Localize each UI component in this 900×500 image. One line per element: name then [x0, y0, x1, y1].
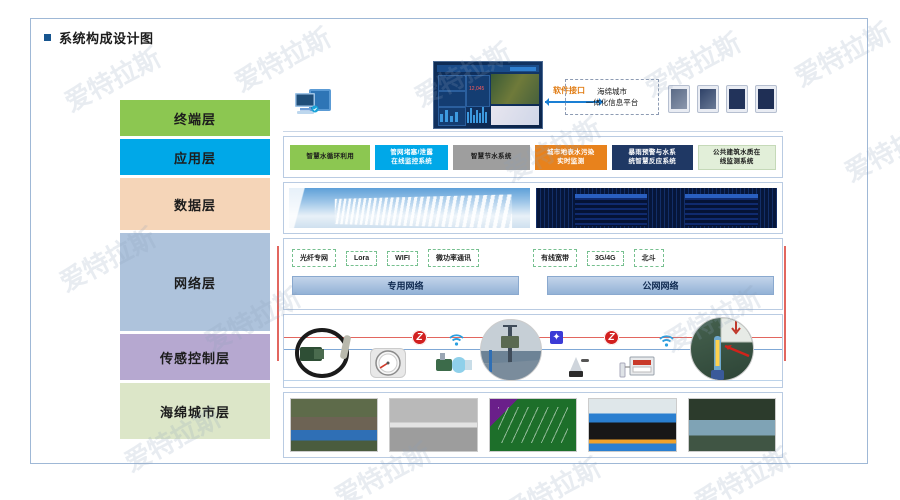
tablet-device-icon: [726, 85, 748, 113]
water-level-sensor: [690, 317, 754, 381]
wifi-icon-2: [659, 334, 674, 352]
scada-network-diagram: [489, 398, 577, 452]
sponge-city-layer-panel: [283, 392, 783, 458]
tablet-monitor-icon: [755, 85, 777, 113]
app-button-5[interactable]: 公共建筑水质在 线监测系统: [698, 145, 777, 170]
tablet-route-icon: [697, 85, 719, 113]
app-button-label: 暴雨预警与水系 统智慧反应系统: [628, 149, 676, 167]
private-network-bar: 专用网络: [292, 276, 519, 295]
page-title: 系统构成设计图: [44, 28, 154, 47]
layer-block-5[interactable]: 海绵城市层: [120, 383, 270, 439]
app-button-label: 智慧节水系统: [471, 153, 512, 162]
rain-gauge: [562, 353, 590, 384]
private-network-tag-0[interactable]: 光纤专网: [292, 249, 336, 267]
app-button-3[interactable]: 城市地表水污染 实时监测: [535, 145, 608, 170]
zigbee-badge-2: Z: [604, 330, 619, 345]
data-layer-panel: [283, 182, 783, 234]
private-network-tags: 光纤专网LoraWIFI微功率通讯: [292, 249, 533, 267]
layer-block-0[interactable]: 终端层: [120, 100, 270, 136]
public-network-tag-2[interactable]: 北斗: [634, 249, 664, 267]
right-red-connector: [784, 246, 786, 361]
public-network-tag-0[interactable]: 有线宽带: [533, 249, 577, 267]
public-network-tags: 有线宽带3G/4G北斗: [533, 249, 774, 267]
network-bars: 专用网络 公网网络: [292, 276, 774, 295]
public-network-bar: 公网网络: [547, 276, 774, 295]
wifi-icon: [449, 334, 464, 348]
layer-label: 应用层: [174, 148, 216, 167]
app-button-1[interactable]: 管网堵塞/泄露 在线监控系统: [375, 145, 448, 170]
application-button-row: 智慧水循环利用管网堵塞/泄露 在线监控系统智慧节水系统城市地表水污染 实时监测暴…: [290, 145, 776, 170]
layer-block-3[interactable]: 网络层: [120, 233, 270, 331]
monitoring-station: [480, 319, 542, 381]
mobile-device-group: [668, 85, 777, 113]
left-red-connector: [277, 246, 279, 361]
app-button-2[interactable]: 智慧节水系统: [453, 145, 530, 170]
cable-sensor: [294, 327, 360, 384]
permeable-pavement-rendering: [588, 398, 676, 452]
app-button-4[interactable]: 暴雨预警与水系 统智慧反应系统: [612, 145, 692, 170]
information-platform-box: 海绵城市 一体化信息平台: [565, 79, 659, 115]
app-button-label: 管网堵塞/泄露 在线监控系统: [390, 149, 433, 167]
cloud-storage-image: [289, 188, 530, 228]
terminal-layer-row: 12,045 软件接口 海绵城市 一体化信息平台: [283, 55, 783, 132]
bullet-icon: [44, 34, 51, 41]
page-title-text: 系统构成设计图: [59, 28, 154, 47]
layer-label: 数据层: [174, 195, 216, 214]
app-button-label: 城市地表水污染 实时监测: [547, 149, 595, 167]
tablet-map-icon: [668, 85, 690, 113]
app-button-label: 智慧水循环利用: [306, 153, 354, 162]
app-button-0[interactable]: 智慧水循环利用: [290, 145, 370, 170]
app-button-label: 公共建筑水质在 线监测系统: [713, 149, 761, 167]
underground-pipe-construction: [290, 398, 378, 452]
private-network-tag-1[interactable]: Lora: [346, 251, 377, 266]
private-network-tag-3[interactable]: 微功率通讯: [428, 249, 479, 267]
layer-label: 终端层: [174, 109, 216, 128]
layer-label: 传感控制层: [160, 348, 230, 367]
pressure-gauge: [370, 348, 406, 378]
car-splashing-water: [688, 398, 776, 452]
network-layer-panel: 光纤专网LoraWIFI微功率通讯 有线宽带3G/4G北斗 专用网络 公网网络: [283, 238, 783, 310]
public-network-tag-1[interactable]: 3G/4G: [587, 251, 624, 266]
private-network-tag-2[interactable]: WIFI: [387, 251, 418, 266]
layer-label: 海绵城市层: [160, 402, 230, 421]
flow-meter: [434, 351, 474, 382]
zigbee-badge: Z: [412, 330, 427, 345]
layer-label: 网络层: [174, 273, 216, 292]
layer-block-4[interactable]: 传感控制层: [120, 334, 270, 380]
diagram-content: 12,045 软件接口 海绵城市 一体化信息平台: [283, 55, 783, 458]
layer-block-1[interactable]: 应用层: [120, 139, 270, 175]
sensor-control-layer-panel: Z: [283, 314, 783, 388]
application-layer-panel: 智慧水循环利用管网堵塞/泄露 在线监控系统智慧节水系统城市地表水污染 实时监测暴…: [283, 136, 783, 178]
sponge-city-dashboard: 12,045: [433, 61, 543, 129]
bluetooth-icon: ✦: [550, 331, 563, 344]
data-center-image: [536, 188, 777, 228]
layer-legend-column: 终端层应用层数据层网络层传感控制层海绵城市层: [120, 100, 270, 442]
control-cabinet: [616, 353, 658, 386]
grayscale-water-surface: [389, 398, 477, 452]
platform-line-2: 一体化信息平台: [586, 97, 639, 108]
layer-block-2[interactable]: 数据层: [120, 178, 270, 230]
screenshot-root: 系统构成设计图 终端层应用层数据层网络层传感控制层海绵城市层: [0, 0, 900, 500]
platform-line-1: 海绵城市: [597, 86, 627, 97]
desktop-computer-icon: [295, 87, 333, 122]
